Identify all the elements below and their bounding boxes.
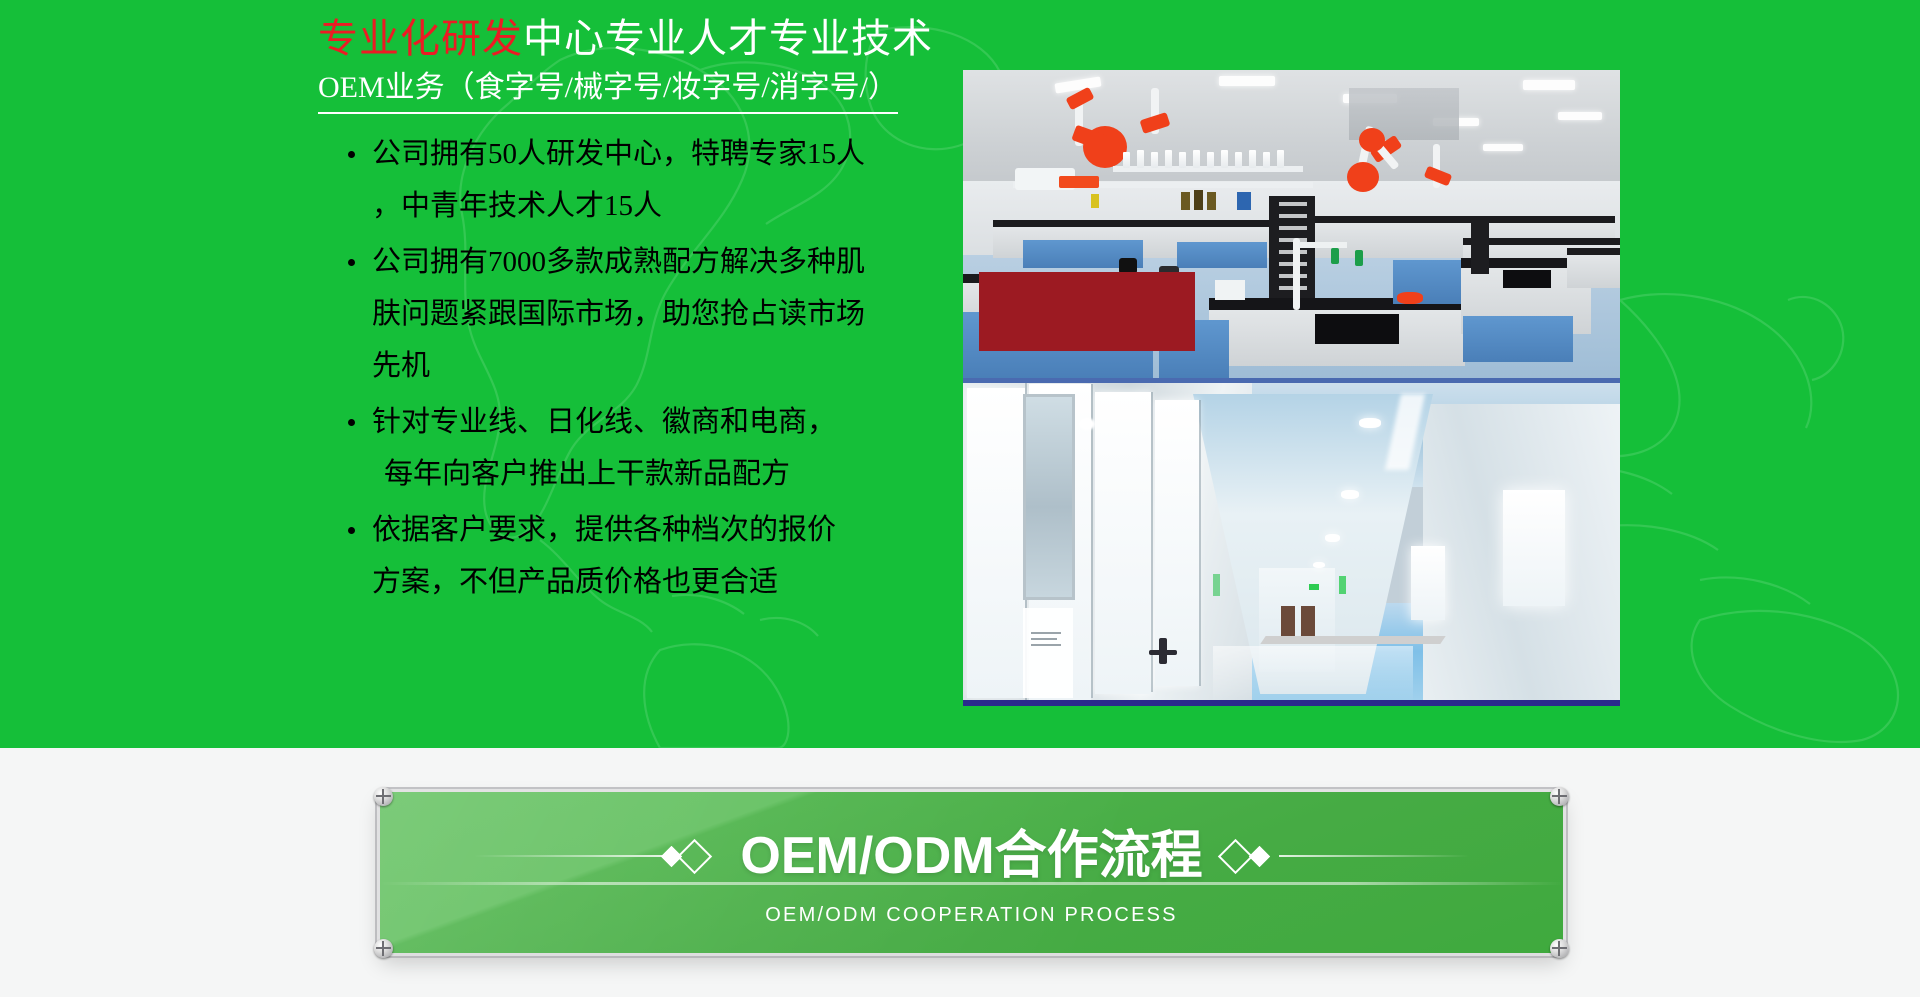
faucet-column — [1293, 238, 1300, 310]
page-title: 专业化研发中心专业人才专业技术 — [318, 12, 933, 66]
door-notice-sheet — [1023, 608, 1073, 698]
notice-text-line — [1031, 638, 1057, 640]
oem-business-subtitle: OEM业务（食字号/械字号/妆字号/消字号/） — [318, 66, 898, 114]
ceiling-lamp — [1313, 562, 1325, 568]
sink-basin — [1503, 270, 1551, 288]
ceiling-lamp — [1341, 490, 1359, 499]
divider-line-left — [474, 855, 664, 857]
bullet-line: 依据客户要求，提供各种档次的报价 — [372, 504, 952, 556]
notice-text-line — [1031, 644, 1061, 646]
red-lamp — [1347, 162, 1379, 192]
door-handle — [1149, 650, 1177, 655]
world-map-watermark — [0, 0, 1920, 748]
red-tray — [1059, 176, 1099, 188]
glassware — [1221, 150, 1228, 168]
bullet-line: 公司拥有50人研发中心，特聘专家15人 — [372, 128, 952, 180]
bullet-line: 肤问题紧跟国际市场，助您抢占读市场 — [372, 288, 952, 340]
redaction-box — [979, 272, 1195, 351]
glassware — [1137, 150, 1144, 168]
door-window — [1023, 394, 1075, 600]
divider-line-right — [1279, 855, 1469, 857]
panel-seam — [1151, 392, 1153, 692]
glassware — [1165, 150, 1172, 168]
dark-equipment-rack — [1471, 220, 1489, 274]
instrument-box — [1237, 192, 1251, 210]
screw-icon — [374, 939, 393, 958]
glassware — [1277, 150, 1284, 168]
corridor-door — [1281, 606, 1295, 640]
screw-icon — [1550, 939, 1569, 958]
ceiling-light — [1483, 144, 1523, 151]
glass-door-panel — [967, 388, 1025, 698]
faucet-arm — [1299, 242, 1347, 248]
bullet-line: 公司拥有7000多款成熟配方解决多种肌 — [372, 236, 952, 288]
notice-text-line — [1031, 632, 1061, 634]
reagent-bottle — [1194, 190, 1203, 210]
exit-sign — [1213, 574, 1220, 596]
ceiling-light — [1558, 112, 1602, 120]
bullet-line: 先机 — [372, 340, 952, 392]
reagent-bottle — [1091, 194, 1099, 208]
diamond-ornament-left-icon — [664, 841, 726, 871]
cooperation-process-banner: OEM/ODM合作流程 OEM/ODM COOPERATION PROCESS — [380, 792, 1563, 953]
glassware — [1193, 150, 1200, 168]
glassware — [1179, 152, 1186, 168]
red-tray — [1397, 292, 1423, 304]
headline-rest: 中心专业人才专业技术 — [523, 16, 933, 61]
glassware — [1207, 152, 1214, 168]
corridor-door — [1301, 606, 1315, 640]
floor-skirting — [1260, 636, 1445, 644]
list-item: 公司拥有50人研发中心，特聘专家15人 ，中青年技术人才15人 — [342, 128, 952, 232]
list-item: 针对专业线、日化线、徽商和电商， 每年向客户推出上干款新品配方 — [342, 396, 952, 500]
diamond-small-icon — [1249, 846, 1270, 867]
exit-sign — [1339, 576, 1346, 594]
lab-bench — [1567, 248, 1620, 288]
glass-door-panel — [1095, 392, 1151, 694]
page-root: 专业化研发中心专业人才专业技术 OEM业务（食字号/械字号/妆字号/消字号/） … — [0, 0, 1920, 997]
diamond-ornament-right-icon — [1217, 841, 1279, 871]
list-item: 公司拥有7000多款成熟配方解决多种肌 肤问题紧跟国际市场，助您抢占读市场 先机 — [342, 236, 952, 392]
diamond-large-icon — [677, 839, 712, 874]
exit-sign — [1309, 584, 1319, 590]
glassware — [1249, 150, 1256, 168]
floor-reflection — [1213, 646, 1413, 702]
bullet-line: 针对专业线、日化线、徽商和电商， — [372, 396, 952, 448]
glassware — [1235, 152, 1242, 168]
bullet-line: 每年向客户推出上干款新品配方 — [372, 448, 952, 500]
cleanroom-corridor-photo — [963, 378, 1620, 706]
bullet-line: ，中青年技术人才15人 — [372, 180, 952, 232]
ceiling-light — [1523, 80, 1575, 90]
hero-section: 专业化研发中心专业人才专业技术 OEM业务（食字号/械字号/妆字号/消字号/） … — [0, 0, 1920, 748]
screw-icon — [374, 787, 393, 806]
panel-seam — [1199, 400, 1201, 686]
headline-highlight: 专业化研发 — [318, 16, 523, 61]
gas-valve — [1355, 250, 1363, 266]
banner-subtitle: OEM/ODM COOPERATION PROCESS — [380, 904, 1563, 927]
wall-light-panel — [1503, 490, 1565, 606]
bench-cabinet — [1463, 316, 1573, 362]
list-item: 依据客户要求，提供各种档次的报价 方案，不但产品质价格也更合适 — [342, 504, 952, 608]
panel-seam — [1091, 384, 1093, 698]
ceiling-lamp — [1325, 534, 1340, 542]
ceiling-light — [1219, 76, 1275, 86]
gas-valve — [1331, 248, 1339, 264]
ceiling-lamp — [1359, 418, 1381, 428]
ceiling-lamp — [1079, 418, 1095, 430]
bullet-line: 方案，不但产品质价格也更合适 — [372, 556, 952, 608]
glassware — [1151, 152, 1158, 168]
bench-cabinet — [1177, 242, 1267, 268]
glassware — [1123, 152, 1130, 168]
wall-light-panel — [1411, 546, 1445, 620]
diamond-large-icon — [1217, 839, 1252, 874]
banner-title: OEM/ODM合作流程 — [726, 827, 1216, 885]
reagent-bottle — [1181, 192, 1190, 210]
reagent-bottle — [1207, 192, 1216, 210]
banner-title-row: OEM/ODM合作流程 — [380, 825, 1563, 887]
feature-bullet-list: 公司拥有50人研发中心，特聘专家15人 ，中青年技术人才15人 公司拥有7000… — [342, 128, 952, 612]
screw-icon — [1550, 787, 1569, 806]
red-lamp — [1359, 128, 1385, 152]
glassware — [1263, 152, 1270, 168]
sink-basin — [1315, 314, 1399, 344]
glassware — [1215, 280, 1245, 300]
